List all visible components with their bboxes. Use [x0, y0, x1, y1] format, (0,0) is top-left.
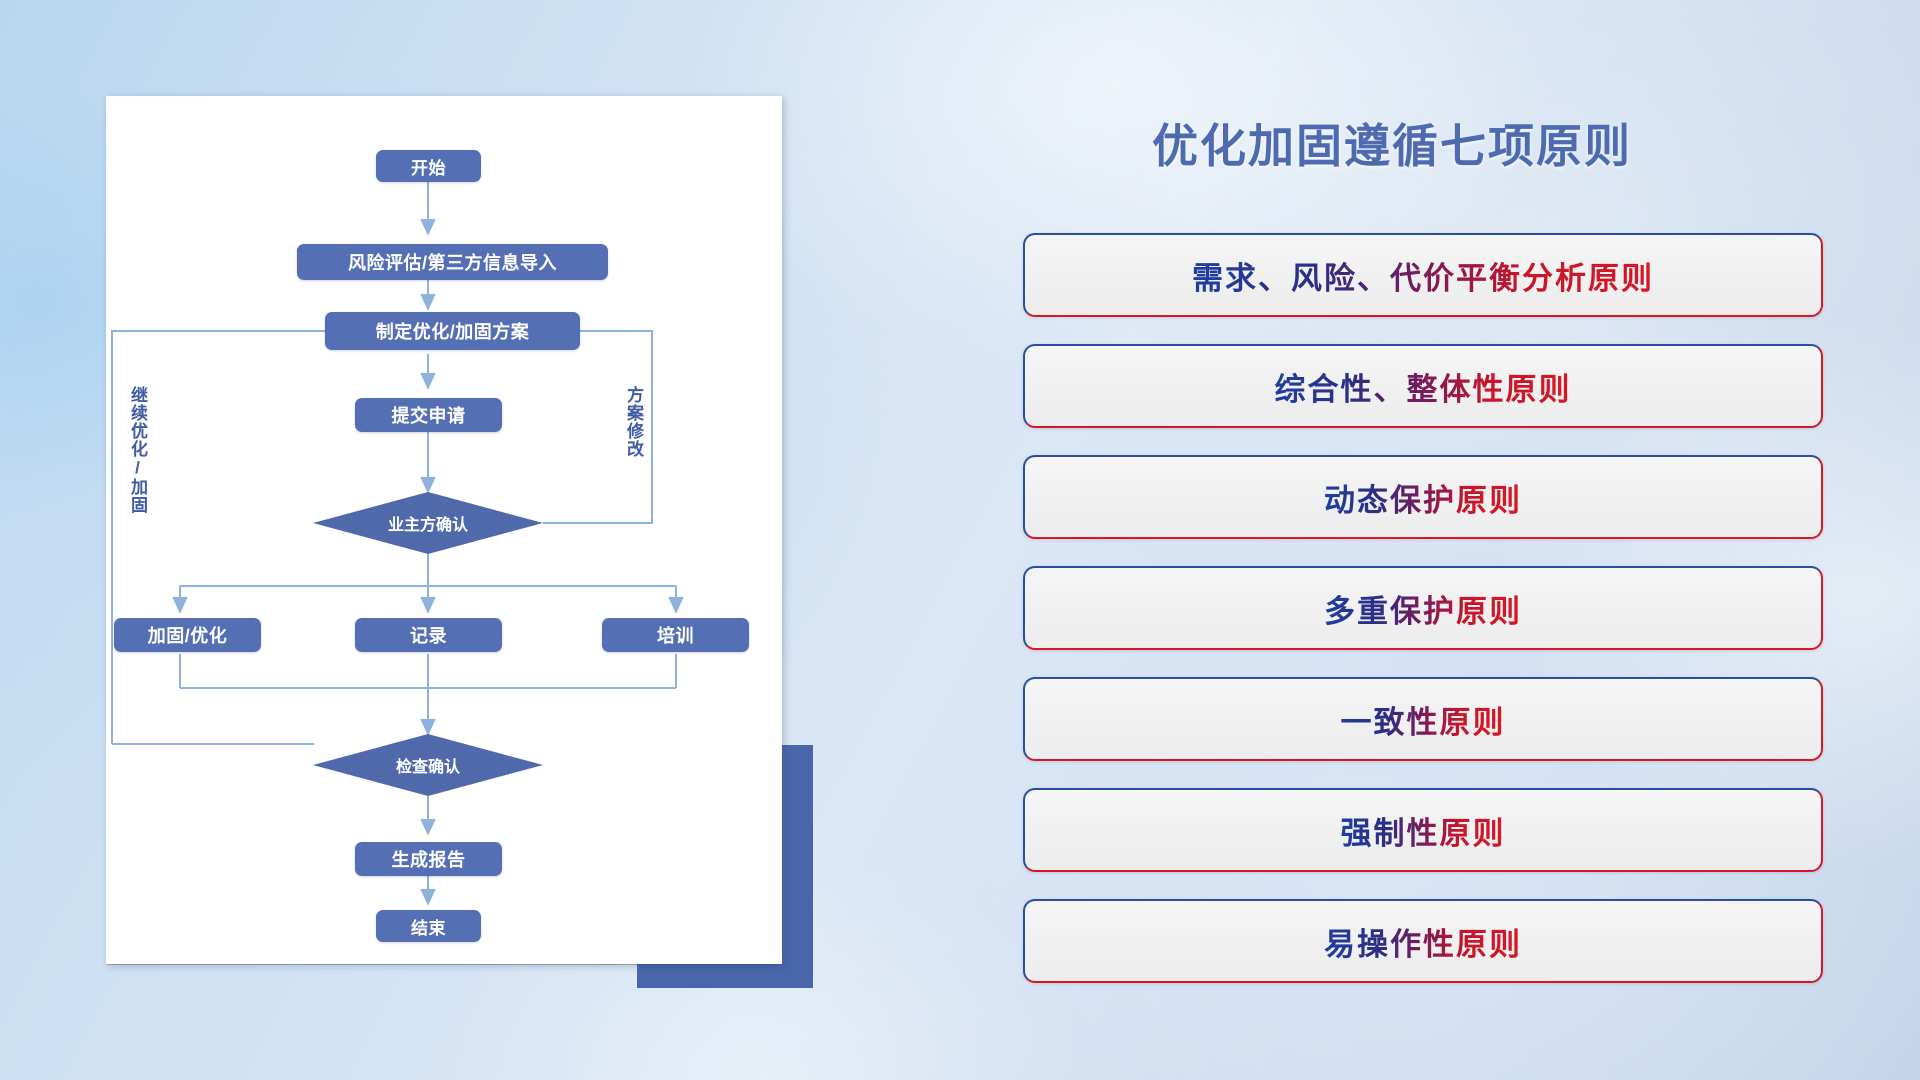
flowchart-canvas: 开始 风险评估/第三方信息导入 制定优化/加固方案 提交申请 业主方确认 加固/…: [106, 96, 782, 964]
flow-node-risk-assessment[interactable]: 风险评估/第三方信息导入: [297, 244, 608, 280]
principle-card[interactable]: 一致性原则: [1023, 677, 1823, 761]
flow-node-reinforce-label: 加固/优化: [148, 622, 228, 648]
flow-decision-check-confirm-label: 检查确认: [396, 753, 460, 777]
principle-card[interactable]: 动态保护原则: [1023, 455, 1823, 539]
principle-card-label: 强制性原则: [1341, 808, 1506, 853]
flow-node-end[interactable]: 结束: [376, 910, 481, 942]
principle-card-label: 综合性、整体性原则: [1275, 364, 1572, 409]
principle-card[interactable]: 需求、风险、代价平衡分析原则: [1023, 233, 1823, 317]
principle-card[interactable]: 强制性原则: [1023, 788, 1823, 872]
flow-node-end-label: 结束: [411, 914, 446, 939]
principles-list: 需求、风险、代价平衡分析原则 综合性、整体性原则 动态保护原则 多重保护原则 一…: [1023, 233, 1823, 1010]
flow-node-record-label: 记录: [410, 622, 447, 648]
principle-card-label: 易操作性原则: [1324, 919, 1522, 964]
flow-node-report[interactable]: 生成报告: [355, 842, 502, 876]
flow-node-plan-label: 制定优化/加固方案: [376, 318, 530, 344]
flow-edge-label-right-loop: 方案修改: [624, 386, 642, 458]
flow-decision-owner-confirm-label: 业主方确认: [388, 511, 468, 535]
principle-card[interactable]: 综合性、整体性原则: [1023, 344, 1823, 428]
principle-card-label: 多重保护原则: [1324, 586, 1522, 631]
flow-node-report-label: 生成报告: [392, 846, 466, 872]
flow-node-plan[interactable]: 制定优化/加固方案: [325, 312, 580, 350]
flow-node-risk-assessment-label: 风险评估/第三方信息导入: [348, 249, 557, 275]
flow-node-training[interactable]: 培训: [602, 618, 749, 652]
principle-card-label: 需求、风险、代价平衡分析原则: [1192, 253, 1654, 298]
principle-card-label: 动态保护原则: [1324, 475, 1522, 520]
flow-node-training-label: 培训: [657, 622, 694, 648]
flowchart-panel: 开始 风险评估/第三方信息导入 制定优化/加固方案 提交申请 业主方确认 加固/…: [106, 96, 782, 964]
flow-node-start-label: 开始: [411, 154, 446, 179]
page-title: 优化加固遵循七项原则: [1152, 110, 1632, 176]
flow-node-submit-label: 提交申请: [392, 402, 466, 428]
flow-node-start[interactable]: 开始: [376, 150, 481, 182]
flow-node-submit[interactable]: 提交申请: [355, 398, 502, 432]
flow-node-record[interactable]: 记录: [355, 618, 502, 652]
principle-card[interactable]: 多重保护原则: [1023, 566, 1823, 650]
flow-node-reinforce[interactable]: 加固/优化: [114, 618, 261, 652]
flow-edge-label-left-loop: 继续优化/加固: [128, 386, 146, 514]
principle-card-label: 一致性原则: [1341, 697, 1506, 742]
principle-card[interactable]: 易操作性原则: [1023, 899, 1823, 983]
